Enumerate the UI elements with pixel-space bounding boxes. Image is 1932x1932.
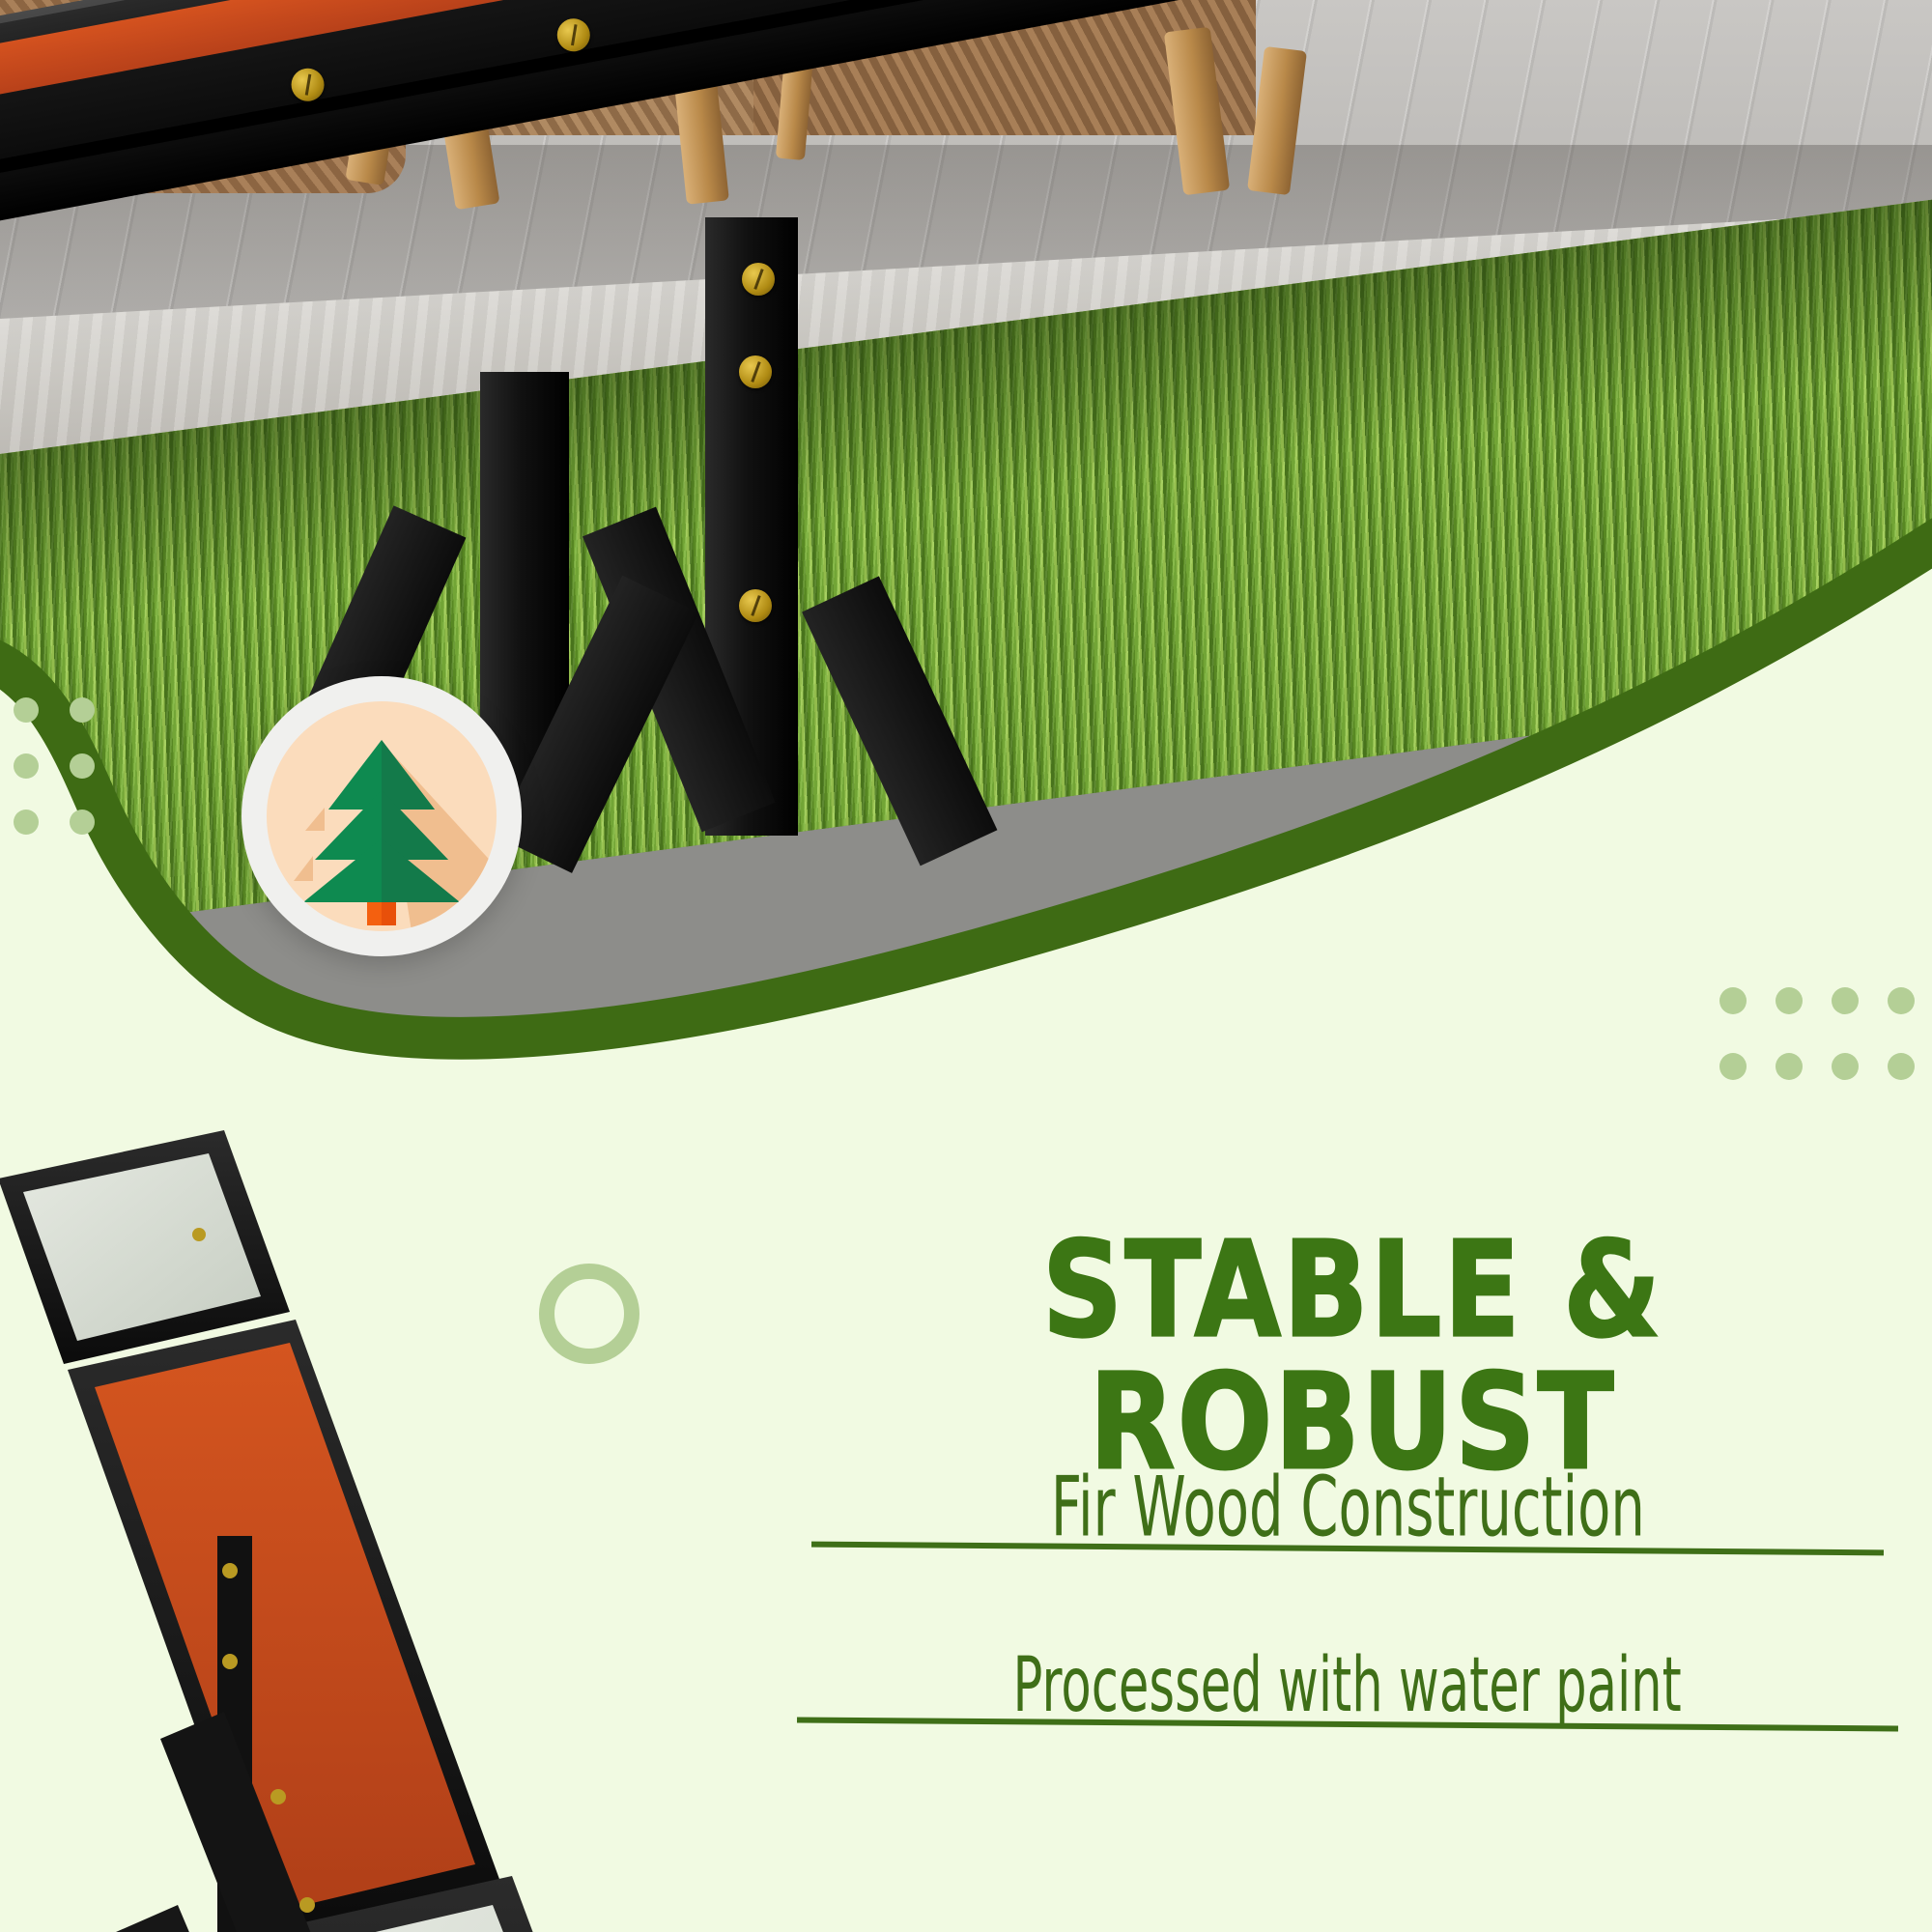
feature-text: Processed with water paint — [1013, 1642, 1682, 1729]
feature-line-1: Fir Wood Construction — [763, 1459, 1932, 1551]
screw — [739, 589, 772, 622]
feature-line-2: Processed with water paint — [763, 1642, 1932, 1727]
dot — [14, 753, 39, 779]
screw — [222, 1563, 238, 1578]
marketing-banner: STABLE & ROBUST Fir Wood Construction Pr… — [0, 0, 1932, 1932]
decor-dots-right — [1719, 987, 1932, 1119]
dot — [1888, 1053, 1915, 1080]
badge-disc — [267, 701, 497, 931]
screw — [299, 1897, 315, 1913]
screw — [270, 1789, 286, 1804]
dot — [1719, 1053, 1747, 1080]
screw — [222, 1654, 238, 1669]
dot — [70, 697, 95, 723]
feature-text: Fir Wood Construction — [1050, 1459, 1644, 1555]
orange-center-ramp — [95, 1343, 475, 1911]
dot — [1888, 987, 1915, 1014]
dot — [1832, 987, 1859, 1014]
hero-product-photo — [0, 0, 1932, 1179]
dot — [14, 697, 39, 723]
dot — [70, 810, 95, 835]
dot — [70, 753, 95, 779]
dot — [14, 810, 39, 835]
screw — [739, 355, 772, 388]
dot — [1776, 987, 1803, 1014]
fir-tree-icon — [267, 701, 497, 931]
screw — [192, 1228, 206, 1241]
dot — [1832, 1053, 1859, 1080]
decor-dots-left — [14, 697, 126, 866]
dot — [1719, 987, 1747, 1014]
headline: STABLE & ROBUST — [763, 1225, 1932, 1490]
screw — [742, 263, 775, 296]
fir-tree-badge — [241, 676, 522, 956]
dot — [1776, 1053, 1803, 1080]
